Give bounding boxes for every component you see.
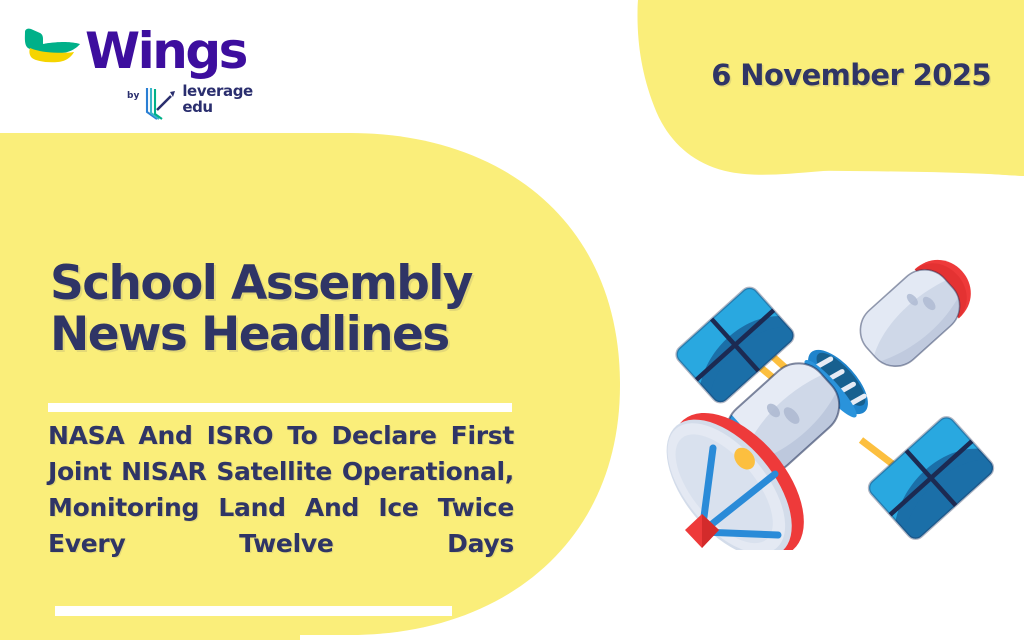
- secondary-body-cylinder: [849, 247, 984, 378]
- page-title: School Assembly News Headlines: [50, 258, 530, 360]
- page-title-line1: School Assembly: [50, 256, 472, 311]
- main-content: School Assembly News Headlines NASA And …: [0, 0, 640, 640]
- page-title-line2: News Headlines: [50, 309, 530, 360]
- solar-panel-lower-right: [865, 414, 996, 543]
- subheadline: NASA And ISRO To Declare First Joint NIS…: [48, 418, 514, 598]
- divider-above-subheadline: [48, 403, 512, 412]
- publication-date: 6 November 2025: [711, 58, 991, 92]
- satellite-illustration: [655, 240, 1005, 550]
- divider-bottom: [55, 606, 452, 616]
